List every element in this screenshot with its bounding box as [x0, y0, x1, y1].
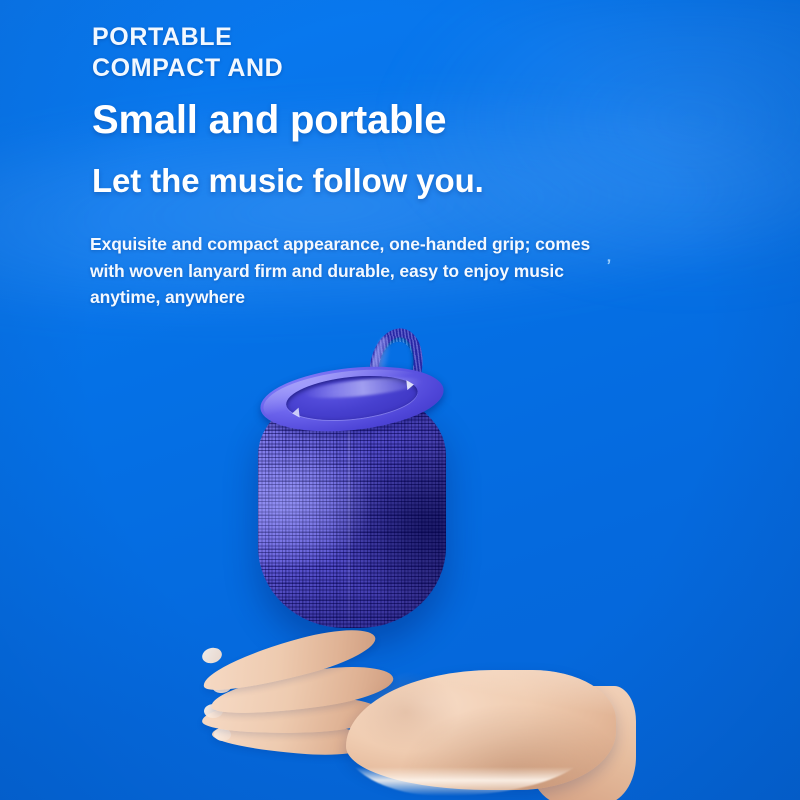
eyebrow-line-2: COMPACT AND	[92, 53, 712, 84]
body-paragraph: Exquisite and compact appearance, one-ha…	[90, 231, 620, 311]
subheadline: Let the music follow you.	[92, 163, 484, 199]
fingernail-index	[200, 646, 223, 666]
eyebrow-line-1: PORTABLE	[92, 22, 712, 53]
hand-image	[196, 636, 616, 800]
eyebrow-text: PORTABLE COMPACT AND	[92, 22, 712, 83]
speaker-product-image	[252, 326, 452, 631]
headline: Small and portable	[92, 98, 446, 142]
speaker-button-marker-right-icon	[406, 379, 414, 390]
speaker-button-marker-left-icon	[292, 408, 300, 419]
product-marketing-banner: PORTABLE COMPACT AND Small and portable …	[0, 0, 800, 800]
